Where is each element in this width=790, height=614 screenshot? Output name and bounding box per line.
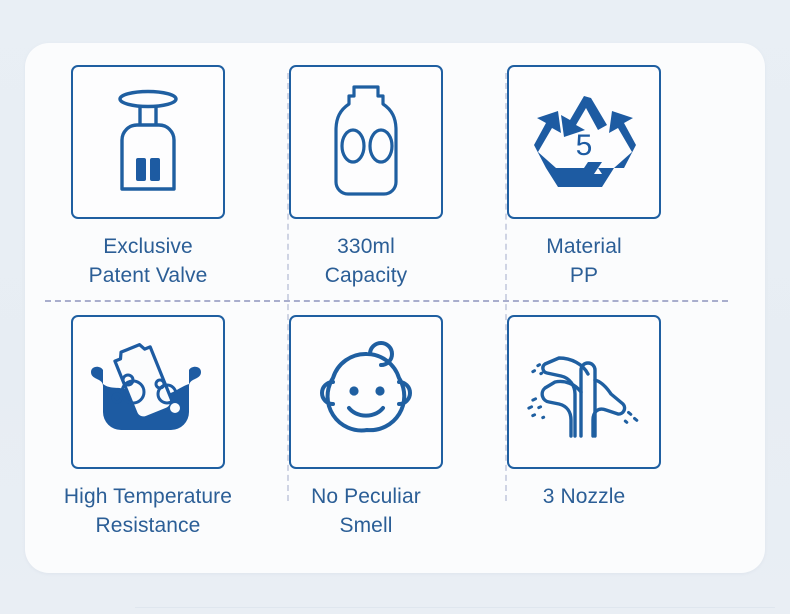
bottle-icon <box>289 65 443 219</box>
feature-label: 330ml Capacity <box>243 232 489 290</box>
feature-label: 3 Nozzle <box>461 482 707 511</box>
feature-label: High Temperature Resistance <box>25 482 271 540</box>
bottom-rule <box>135 607 775 608</box>
horizontal-divider <box>45 300 728 302</box>
feature-grid: Exclusive Patent Valve 330ml Capacity <box>25 43 765 573</box>
feature-card: Exclusive Patent Valve 330ml Capacity <box>25 43 765 573</box>
recycle-number: 5 <box>576 129 593 162</box>
feature-cell-exclusive-patent-valve[interactable]: Exclusive Patent Valve <box>25 65 271 290</box>
feature-cell-capacity[interactable]: 330ml Capacity <box>243 65 489 290</box>
three-spray-nozzles-icon <box>507 315 661 469</box>
feature-cell-no-peculiar-smell[interactable]: No Peculiar Smell <box>243 315 489 540</box>
pump-valve-icon <box>71 65 225 219</box>
baby-face-icon <box>289 315 443 469</box>
feature-label: Exclusive Patent Valve <box>25 232 271 290</box>
recycle-5-icon: 5 <box>507 65 661 219</box>
bottle-in-hot-water-icon <box>71 315 225 469</box>
feature-label: No Peculiar Smell <box>243 482 489 540</box>
feature-cell-material[interactable]: 5 Material PP <box>461 65 707 290</box>
feature-label: Material PP <box>461 232 707 290</box>
feature-grid-page: Exclusive Patent Valve 330ml Capacity <box>0 0 790 614</box>
feature-cell-high-temperature-resistance[interactable]: High Temperature Resistance <box>25 315 271 540</box>
feature-cell-three-nozzle[interactable]: 3 Nozzle <box>461 315 707 511</box>
